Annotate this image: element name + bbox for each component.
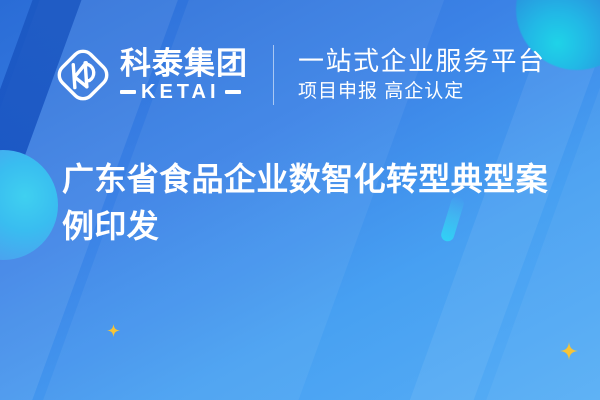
page-title: 广东省食品企业数智化转型典型案例印发 xyxy=(62,156,562,251)
logo-name-cn: 科泰集团 xyxy=(120,48,248,80)
ketai-diamond-kp-logo-icon xyxy=(55,47,111,103)
logo-name-en: KETAI xyxy=(141,82,220,102)
tagline-block: 一站式企业服务平台 项目申报 高企认定 xyxy=(298,47,546,104)
header-divider xyxy=(273,45,274,105)
promo-banner: 科泰集团 KETAI 一站式企业服务平台 项目申报 高企认定 广东省食品企业数智… xyxy=(0,0,600,400)
logo-wordmark: 科泰集团 KETAI xyxy=(120,48,248,103)
logo-en-row: KETAI xyxy=(120,82,248,102)
banner-header: 科泰集团 KETAI 一站式企业服务平台 项目申报 高企认定 xyxy=(0,0,600,150)
tagline-sub: 项目申报 高企认定 xyxy=(298,81,546,104)
sparkle-icon-small xyxy=(107,324,120,337)
tagline-main: 一站式企业服务平台 xyxy=(298,47,546,76)
cyan-glow-bottom-left xyxy=(0,150,58,260)
brand-lockup[interactable]: 科泰集团 KETAI xyxy=(55,47,248,103)
logo-rule-right xyxy=(225,90,241,94)
sparkle-icon-large xyxy=(560,342,578,360)
logo-rule-left xyxy=(120,90,136,94)
